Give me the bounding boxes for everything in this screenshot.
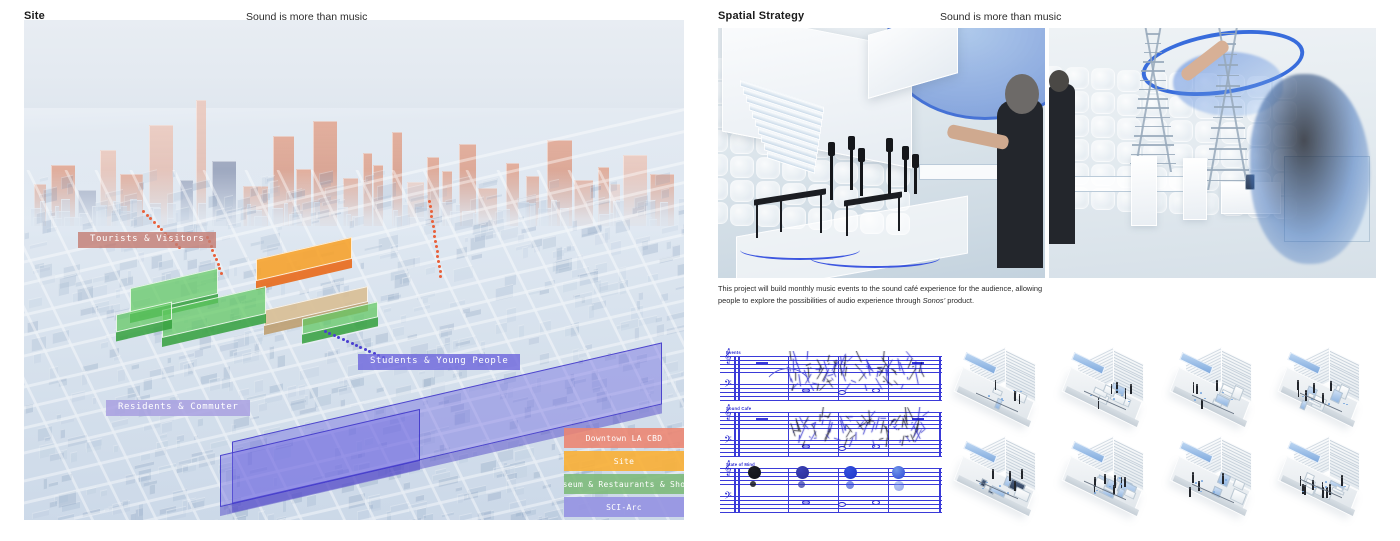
axo-stage [1168,353,1260,426]
axo-7[interactable] [1160,434,1268,523]
axonometric-scenario-grid [944,345,1376,523]
axo-figure-head [1124,477,1126,479]
axo-figure-head [1198,481,1200,483]
treble-clef-1: 𝄞 [724,350,732,363]
axo-5[interactable] [944,434,1052,523]
axo-figure [1201,401,1203,409]
axo-figure [1130,386,1132,394]
axo-figure-head [1193,382,1195,384]
axo-figure-head [1192,472,1194,474]
blue-cable-2 [810,248,940,268]
locker-block-2 [1183,158,1207,220]
intensity-dot-small-1 [750,481,756,487]
axo-figure [995,382,997,390]
axo-figure-head [1330,381,1332,383]
map-tag-tourists[interactable]: Tourists & Visitors [78,232,216,248]
intensity-dot-large-1 [748,466,761,479]
axo-figure [1111,386,1113,394]
axo-speaker-dot [1201,480,1203,482]
axo-2[interactable] [1052,345,1160,434]
barline-3-2 [788,468,789,513]
axo-8[interactable] [1268,434,1376,523]
axo-figure-head [992,469,994,471]
instrument-table-right [844,196,902,234]
standing-figure-left [1049,84,1075,244]
axo-figure [1009,473,1011,481]
render-sound-cafe-interior [718,28,1045,278]
axo-figure [1098,401,1100,409]
axo-figure [1313,385,1315,393]
axo-4[interactable] [1268,345,1376,434]
barline-2-5 [939,412,941,457]
axo-figure [1193,385,1195,393]
axo-figure-head [1216,380,1218,382]
intensity-dot-large-4 [892,466,905,479]
axo-1[interactable] [944,345,1052,434]
axo-speaker-dot [982,488,984,490]
render-sound-installation [1049,28,1376,278]
staff-group-1: Events𝄞𝄢 [720,350,942,404]
barline-3-1 [738,468,740,513]
standing-figure-left-head [1049,70,1069,92]
bass-note-3-2 [838,502,846,507]
lattice-tower-left [1129,28,1177,172]
visitor-figure-head [1005,74,1039,114]
instrument-table-left [754,194,826,236]
axo-figure [1192,475,1194,483]
legend-item-sci-arc[interactable]: SCI-Arc [564,497,684,517]
mic-stand-2 [850,144,853,190]
map-tag-students[interactable]: Students & Young People [358,354,520,370]
axo-6[interactable] [1052,434,1160,523]
intensity-dot-small-2 [798,481,805,488]
barline-1-1 [738,356,740,401]
axo-figure [1330,383,1332,391]
axo-figure [1222,476,1224,484]
staff-group-2: Sound Cafe𝄞𝄢 [720,406,942,460]
caption-line-2-pre: people to explore the possibilities of a… [718,296,923,305]
axo-figure-head [1189,487,1191,489]
axo-figure [1322,490,1324,498]
axo-speaker-dot [1094,492,1096,494]
axo-figure [1196,386,1198,394]
axo-speaker-dot [988,395,990,397]
intensity-dot-large-2 [796,466,809,479]
music-score-diagram: Events𝄞𝄢Sound Cafe𝄞𝄢State of Mind𝄞𝄢 [718,350,944,518]
axo-speaker-dot [1119,477,1121,479]
intensity-dot-large-3 [844,466,857,479]
axo-stage [1276,442,1368,515]
axo-figure [1304,487,1306,495]
axo-figure-head [1313,383,1315,385]
axo-figure [1297,382,1299,390]
phrase-tie-arc [760,368,816,430]
whole-rest-1-1 [756,362,768,364]
legend-item-site[interactable]: Site [564,451,684,471]
axo-3[interactable] [1160,345,1268,434]
leader-line-cbd [428,200,440,280]
axo-figure-head [1021,469,1023,471]
spatial-strategy-panel: This project will build monthly music ev… [718,20,1376,520]
treble-clef-2: 𝄞 [724,406,732,419]
axo-figure-head [1222,473,1224,475]
intensity-dot-small-3 [846,481,854,489]
system-bracket-1 [734,356,736,401]
axo-figure [1216,383,1218,391]
legend: Downtown LA CBD Site Museum & Restaurant… [564,428,684,520]
barline-2-1 [738,412,740,457]
bass-staff-3 [720,496,942,513]
axo-figure [1341,478,1343,486]
axo-figure [1115,480,1117,488]
axo-figure [1125,391,1127,399]
caption-line-1: This project will build monthly music ev… [718,283,1148,295]
axo-figure-head [1305,390,1307,392]
axo-figure [1014,393,1016,401]
axo-figure [1124,479,1126,487]
bass-clef-1: 𝄢 [724,379,732,391]
mic-stand-5 [904,154,907,192]
axo-figure-head [1329,484,1331,486]
mic-stand-3 [860,156,863,196]
staff-group-3: State of Mind𝄞𝄢 [720,462,942,516]
axo-speaker-dot [1194,399,1196,401]
axo-figure-head [1014,391,1016,393]
render-photo-row [718,28,1376,278]
locker-block-1 [1131,156,1157,226]
presentation-board: Site Sound is more than music [0,0,1400,541]
axo-stage [1168,442,1260,515]
bass-clef-2: 𝄢 [724,435,732,447]
axo-figure [1019,396,1021,404]
bass-note-3-3 [872,500,880,505]
axo-stage [1060,442,1152,515]
bass-clef-3: 𝄢 [724,491,732,503]
axo-stage [1276,353,1368,426]
axo-figure [1021,471,1023,479]
caption-line-2-post: product. [945,296,974,305]
treble-clef-3: 𝄞 [724,462,732,475]
window-strip-left [1063,176,1193,192]
bass-note-3-1 [802,500,810,505]
axo-figure-head [1014,481,1016,483]
caption-brand-sonos: Sonos’ [923,296,946,305]
system-bracket-3 [734,468,736,513]
barline-3-4 [888,468,889,513]
axo-figure-head [1304,485,1306,487]
axo-figure-head [1326,487,1328,489]
map-tag-residents[interactable]: Residents & Commuter [106,400,250,416]
axo-figure-head [1094,477,1096,479]
axo-speaker-dot [1195,482,1197,484]
barline-1-5 [939,356,941,401]
legend-item-downtown-la-cbd[interactable]: Downtown LA CBD [564,428,684,448]
intensity-dot-small-4 [894,481,904,491]
axo-stage [952,442,1044,515]
site-map: Tourists & Visitors Students & Young Peo… [24,20,684,520]
mic-stand-4 [888,146,891,194]
axo-figure-head [1341,475,1343,477]
axo-speaker-dot [1325,486,1327,488]
mic-stand-1 [830,150,833,200]
axo-speaker-dot [1113,398,1115,400]
axo-figure [1189,489,1191,497]
axo-stage [1060,353,1152,426]
axo-stage [952,353,1044,426]
barline-3-5 [939,468,941,513]
axo-figure [1014,483,1016,491]
caption-line-2: people to explore the possibilities of a… [718,295,1148,307]
system-bracket-2 [734,412,736,457]
axo-figure [1104,476,1106,484]
mic-stand-6 [914,162,917,194]
legend-item-museum-restaurants-shops[interactable]: Museum & Restaurants & Shops [564,474,684,494]
project-caption: This project will build monthly music ev… [718,283,1148,307]
axo-speaker-dot [1120,483,1122,485]
axo-speaker-dot [1109,486,1111,488]
visitor-figure-body [997,100,1043,268]
axo-figure-head [1116,382,1118,384]
axo-figure-head [1130,384,1132,386]
axo-figure [992,471,994,479]
